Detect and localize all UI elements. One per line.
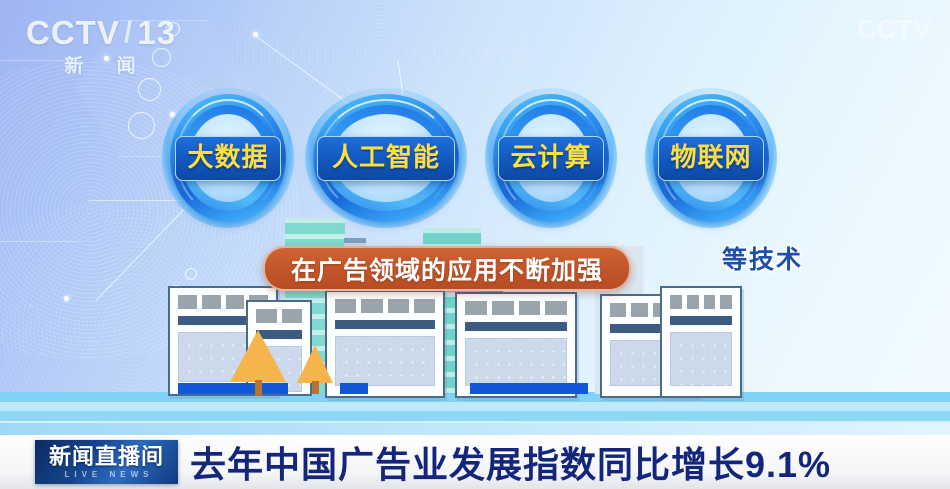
program-name-cn: 新闻直播间 [49, 446, 164, 468]
document-card-6 [660, 286, 742, 398]
tech-badge-label: 人工智能 [332, 142, 440, 172]
ground-band-3 [0, 411, 950, 421]
plinth-mid [340, 383, 368, 394]
program-badge: 新闻直播间 LIVE NEWS [35, 440, 178, 484]
broadcast-frame: CCTV / 13 新 闻 CCTV [0, 0, 950, 489]
tree-canopy-large [230, 330, 286, 382]
tech-badge-iot[interactable]: 物联网 [645, 88, 777, 228]
cctv-watermark: CCTV [857, 14, 932, 45]
tech-badge-plate: 物联网 [658, 136, 764, 181]
program-name-en: LIVE NEWS [59, 471, 153, 479]
tech-badge-label: 大数据 [187, 142, 268, 172]
tech-badge-plate: 人工智能 [317, 136, 455, 181]
highlight-banner-text: 在广告领域的应用不断加强 [291, 251, 603, 287]
cctv-logo-subtitle: 新 闻 [26, 51, 176, 78]
tech-badge-bigdata[interactable]: 大数据 [162, 88, 294, 228]
document-card-3 [325, 290, 445, 398]
tree-trunk-large [255, 380, 262, 396]
tree-canopy-small [297, 345, 333, 383]
news-headline: 去年中国广告业发展指数同比增长9.1% [190, 439, 831, 485]
cctv-logo: CCTV / 13 新 闻 [26, 16, 176, 78]
plinth-left [178, 383, 288, 394]
tech-badge-label: 云计算 [510, 142, 591, 172]
tree-trunk-small [312, 381, 319, 394]
plinth-right [470, 383, 588, 394]
tech-badge-label: 物联网 [670, 142, 751, 172]
highlight-banner: 在广告领域的应用不断加强 [263, 246, 631, 291]
cctv-logo-name: CCTV [26, 16, 120, 50]
lower-third: 新闻直播间 LIVE NEWS 去年中国广告业发展指数同比增长9.1% [0, 423, 950, 489]
tech-badge-plate: 云计算 [498, 136, 604, 181]
tech-badge-plate: 大数据 [175, 136, 281, 181]
tech-badge-ai[interactable]: 人工智能 [305, 88, 467, 228]
cctv-logo-slash-icon: / [120, 16, 137, 50]
etc-technologies-label: 等技术 [722, 240, 803, 276]
lower-third-top-strip [0, 423, 950, 435]
tech-badge-cloud[interactable]: 云计算 [485, 88, 617, 228]
cctv-logo-number: 13 [137, 16, 176, 50]
ground-band-2 [0, 402, 950, 411]
